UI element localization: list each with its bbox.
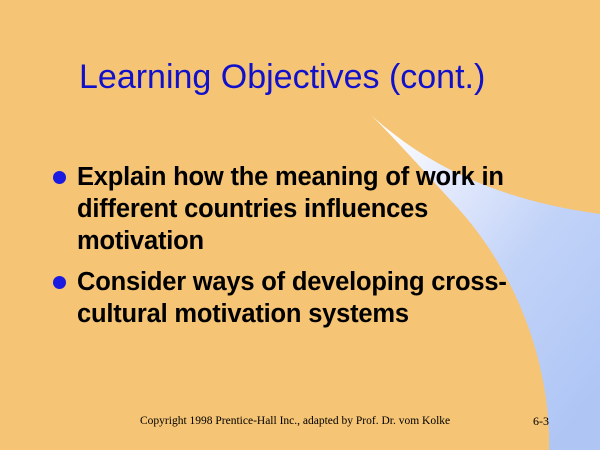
presentation-slide: Learning Objectives (cont.) Explain how … [0,0,600,450]
bullet-list: Explain how the meaning of work in diffe… [50,161,550,339]
list-item-label: Consider ways of developing cross-cultur… [77,266,550,330]
bullet-dot-icon [53,171,66,184]
list-item: Explain how the meaning of work in diffe… [50,161,550,257]
footer-page-number: 6-3 [533,414,549,428]
slide-title: Learning Objectives (cont.) [79,57,485,97]
list-item: Consider ways of developing cross-cultur… [50,266,550,330]
footer-copyright: Copyright 1998 Prentice-Hall Inc., adapt… [140,414,450,428]
bullet-dot-icon [53,276,66,289]
list-item-label: Explain how the meaning of work in diffe… [77,161,550,257]
